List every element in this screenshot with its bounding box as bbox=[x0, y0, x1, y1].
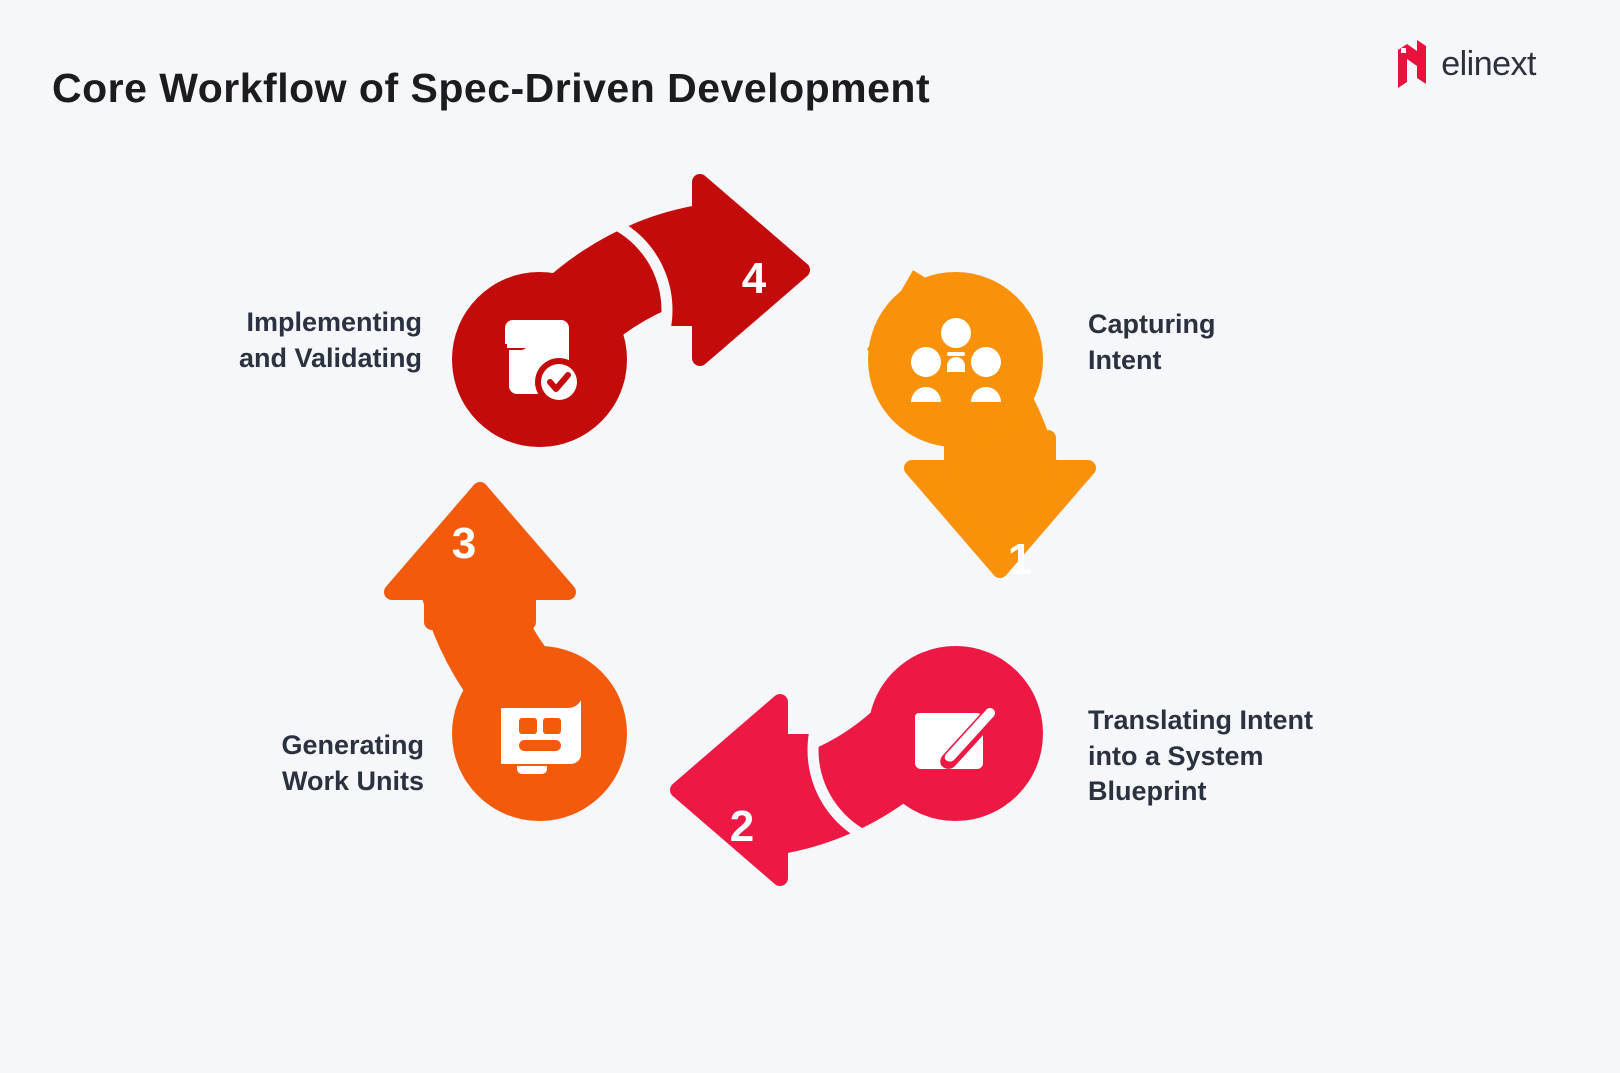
cycle-diagram: 1 2 3 4 bbox=[0, 150, 1620, 960]
label-line: Generating bbox=[281, 728, 424, 764]
arrow-number-2: 2 bbox=[712, 805, 772, 849]
label-line: Work Units bbox=[281, 764, 424, 800]
label-generating-work-units: Generating Work Units bbox=[281, 728, 424, 799]
elinext-n-mark-icon bbox=[1395, 40, 1429, 88]
node-generating-work-units[interactable] bbox=[452, 646, 627, 821]
people-group-icon bbox=[910, 318, 1002, 402]
label-capturing-intent: Capturing Intent bbox=[1088, 307, 1216, 378]
arrow-number-4: 4 bbox=[724, 257, 784, 301]
arrow-number-3: 3 bbox=[434, 522, 494, 566]
arrow-number-1: 1 bbox=[990, 538, 1050, 582]
label-implementing-validating: Implementing and Validating bbox=[239, 305, 422, 376]
label-line: and Validating bbox=[239, 341, 422, 377]
label-line: Capturing bbox=[1088, 307, 1216, 343]
label-line: Intent bbox=[1088, 343, 1216, 379]
node-translating-intent[interactable] bbox=[868, 646, 1043, 821]
label-translating-intent: Translating Intent into a System Bluepri… bbox=[1088, 703, 1313, 810]
edit-pencil-square-icon bbox=[911, 691, 1001, 777]
page-title: Core Workflow of Spec-Driven Development bbox=[52, 65, 930, 112]
document-check-icon bbox=[497, 316, 583, 404]
label-line: Blueprint bbox=[1088, 774, 1313, 810]
label-line: Implementing bbox=[239, 305, 422, 341]
brand-wordmark: elinext bbox=[1441, 47, 1536, 81]
node-capturing-intent[interactable] bbox=[868, 272, 1043, 447]
work-board-icon bbox=[495, 694, 585, 774]
label-line: Translating Intent bbox=[1088, 703, 1313, 739]
node-implementing-validating[interactable] bbox=[452, 272, 627, 447]
brand-logo: elinext bbox=[1395, 40, 1536, 88]
label-line: into a System bbox=[1088, 739, 1313, 775]
